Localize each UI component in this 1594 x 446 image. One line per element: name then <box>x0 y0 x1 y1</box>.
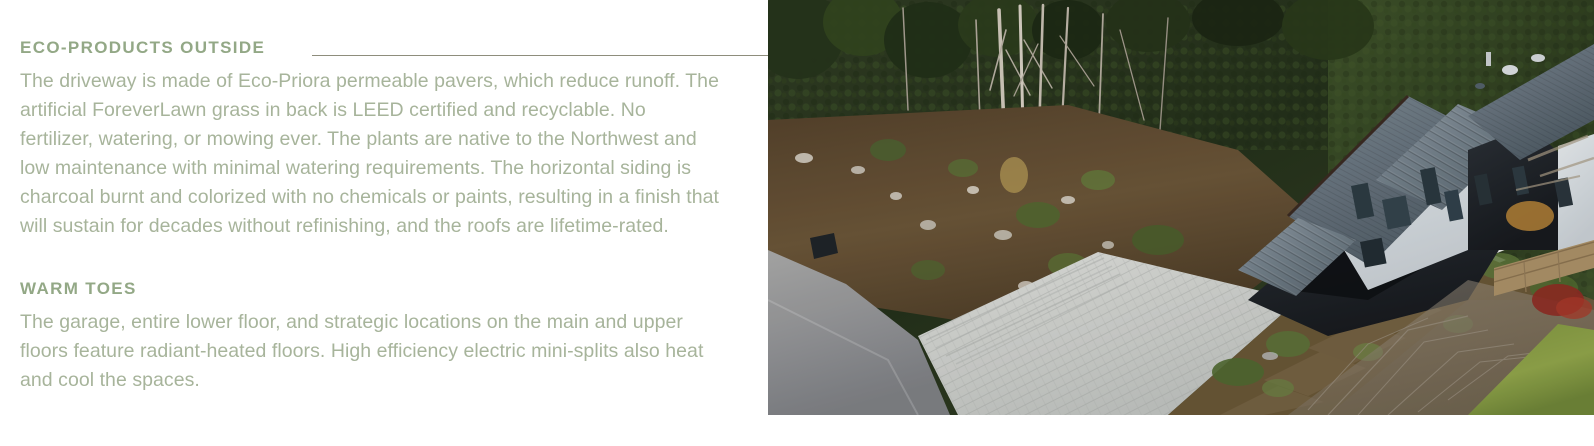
aerial-house-photo <box>768 0 1594 415</box>
text-column: ECO-PRODUCTS OUTSIDE The driveway is mad… <box>0 0 768 446</box>
heading-row-eco: ECO-PRODUCTS OUTSIDE <box>20 36 768 60</box>
section-body-eco-products-outside: The driveway is made of Eco-Priora perme… <box>20 67 720 241</box>
section-eco-products-outside: ECO-PRODUCTS OUTSIDE The driveway is mad… <box>20 36 768 241</box>
section-heading-warm-toes: WARM TOES <box>20 277 137 301</box>
aerial-house-photo-graphic <box>768 0 1594 415</box>
photo-vignette <box>768 0 1594 415</box>
section-warm-toes: WARM TOES The garage, entire lower floor… <box>20 277 768 395</box>
section-heading-eco-products-outside: ECO-PRODUCTS OUTSIDE <box>20 36 265 60</box>
heading-row-warm: WARM TOES <box>20 277 768 301</box>
spread-page: ECO-PRODUCTS OUTSIDE The driveway is mad… <box>0 0 1594 446</box>
section-body-warm-toes: The garage, entire lower floor, and stra… <box>20 308 720 395</box>
